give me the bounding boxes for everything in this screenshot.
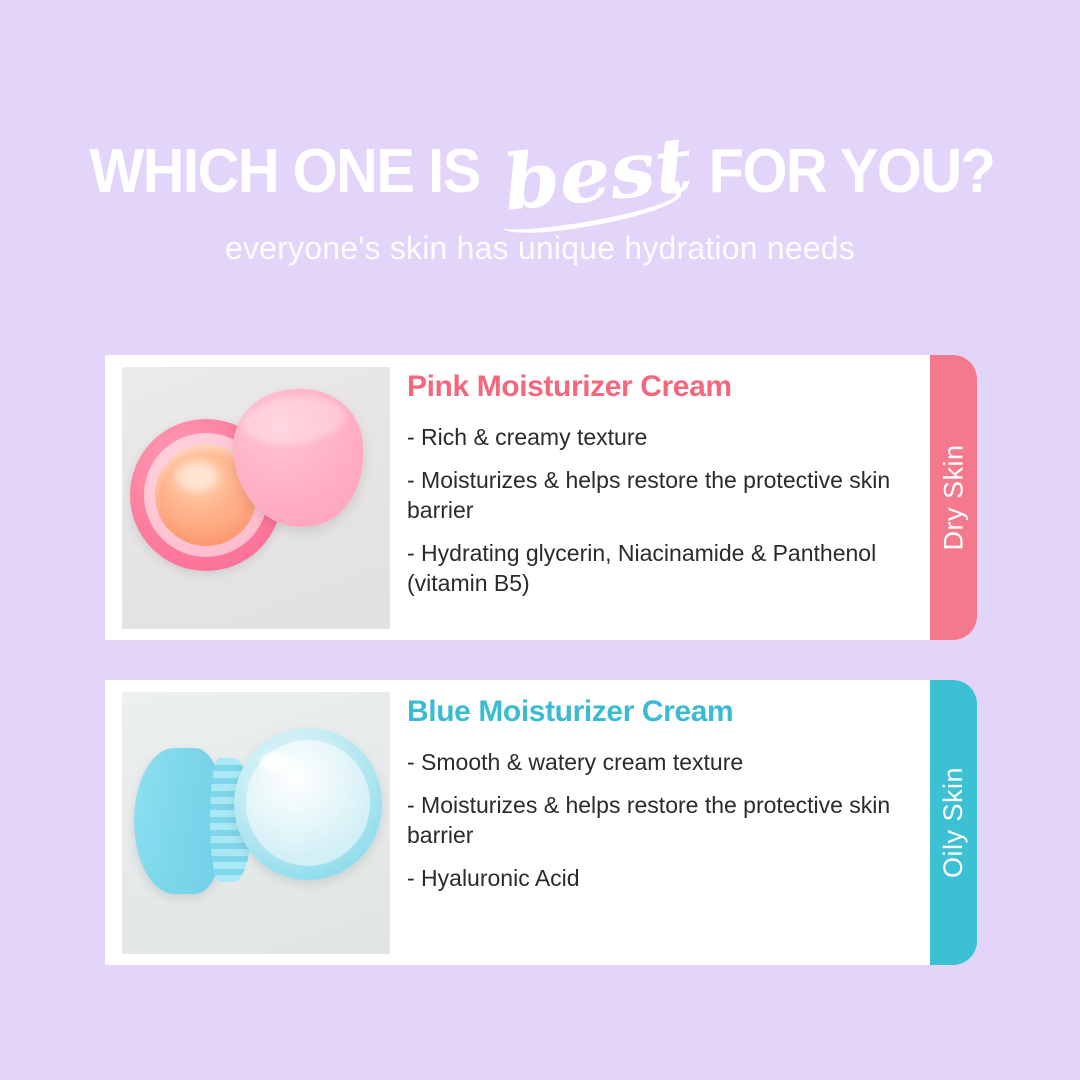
feature-list-blue: - Smooth & watery cream texture - Moistu… <box>407 748 907 894</box>
feature-item: - Moisturizes & helps restore the protec… <box>407 466 907 525</box>
page-subtitle: everyone's skin has unique hydration nee… <box>0 230 1080 267</box>
page-title: WHICH ONE IS best FOR YOU? <box>0 128 1080 204</box>
product-card-list: Pink Moisturizer Cream - Rich & creamy t… <box>0 355 1080 1005</box>
feature-item: - Hydrating glycerin, Niacinamide & Pant… <box>407 539 907 598</box>
product-info-blue: Blue Moisturizer Cream - Smooth & watery… <box>407 694 907 908</box>
card-body: Blue Moisturizer Cream - Smooth & watery… <box>105 680 930 965</box>
product-title-pink: Pink Moisturizer Cream <box>407 369 907 405</box>
title-part-1: WHICH ONE IS <box>90 141 480 203</box>
product-info-pink: Pink Moisturizer Cream - Rich & creamy t… <box>407 369 907 612</box>
feature-list-pink: - Rich & creamy texture - Moisturizes & … <box>407 423 907 598</box>
product-image-pink <box>122 367 390 629</box>
skin-type-tab-label: Oily Skin <box>938 767 969 878</box>
blue-jar-body-icon <box>234 728 382 880</box>
feature-item: - Rich & creamy texture <box>407 423 907 452</box>
product-title-blue: Blue Moisturizer Cream <box>407 694 907 730</box>
title-script-word: best <box>500 126 695 221</box>
product-image-blue <box>122 692 390 954</box>
product-card-blue[interactable]: Blue Moisturizer Cream - Smooth & watery… <box>105 680 972 965</box>
feature-item: - Smooth & watery cream texture <box>407 748 907 777</box>
title-part-2: FOR YOU? <box>709 141 995 203</box>
product-card-pink[interactable]: Pink Moisturizer Cream - Rich & creamy t… <box>105 355 972 640</box>
feature-item: - Moisturizes & helps restore the protec… <box>407 791 907 850</box>
skin-type-tab-oily[interactable]: Oily Skin <box>930 680 977 965</box>
header: WHICH ONE IS best FOR YOU? everyone's sk… <box>0 0 1080 267</box>
skin-type-tab-label: Dry Skin <box>938 444 969 550</box>
feature-item: - Hyaluronic Acid <box>407 864 907 893</box>
skin-type-tab-dry[interactable]: Dry Skin <box>930 355 977 640</box>
card-body: Pink Moisturizer Cream - Rich & creamy t… <box>105 355 930 640</box>
